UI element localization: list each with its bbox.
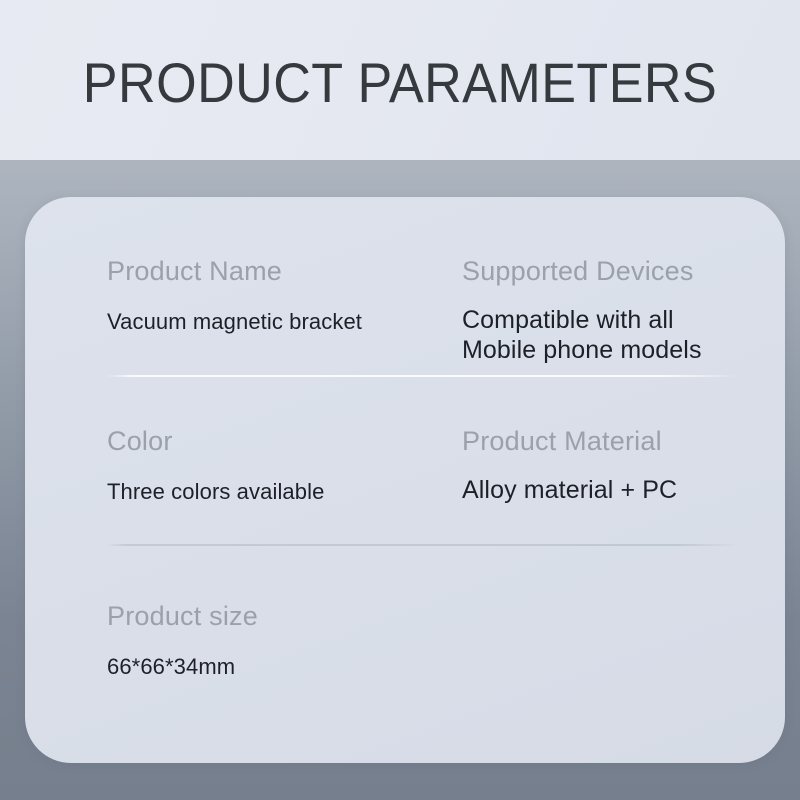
spec-cell-color: Color Three colors available [107, 425, 462, 505]
spec-cell-supported-devices: Supported Devices Compatible with all Mo… [462, 255, 737, 365]
product-parameters-page: PRODUCT PARAMETERS Product Name Vacuum m… [0, 0, 800, 800]
spec-row: Product size 66*66*34mm [107, 600, 737, 680]
spec-value-product-size: 66*66*34mm [107, 653, 462, 680]
row-divider-2 [107, 544, 737, 546]
spec-row: Product Name Vacuum magnetic bracket Sup… [107, 255, 737, 365]
specification-card: Product Name Vacuum magnetic bracket Sup… [25, 197, 785, 763]
spec-label-supported-devices: Supported Devices [462, 255, 737, 287]
spec-value-color: Three colors available [107, 478, 462, 505]
row-divider-1 [107, 375, 737, 377]
spec-value-supported-devices: Compatible with all Mobile phone models [462, 305, 737, 365]
spec-label-product-material: Product Material [462, 425, 737, 457]
spec-cell-product-material: Product Material Alloy material + PC [462, 425, 737, 505]
specification-table: Product Name Vacuum magnetic bracket Sup… [107, 255, 737, 725]
header-band: PRODUCT PARAMETERS [0, 0, 800, 160]
spec-label-color: Color [107, 425, 462, 457]
spec-value-supported-devices-line-2: Mobile phone models [462, 335, 737, 365]
spec-value-product-name: Vacuum magnetic bracket [107, 308, 462, 335]
spec-value-supported-devices-line-1: Compatible with all [462, 305, 737, 335]
page-title: PRODUCT PARAMETERS [28, 52, 772, 114]
spec-cell-product-size: Product size 66*66*34mm [107, 600, 462, 680]
spec-label-product-name: Product Name [107, 255, 462, 287]
spec-cell-product-name: Product Name Vacuum magnetic bracket [107, 255, 462, 365]
spec-value-product-material: Alloy material + PC [462, 475, 737, 505]
spec-row: Color Three colors available Product Mat… [107, 425, 737, 505]
spec-label-product-size: Product size [107, 600, 462, 632]
